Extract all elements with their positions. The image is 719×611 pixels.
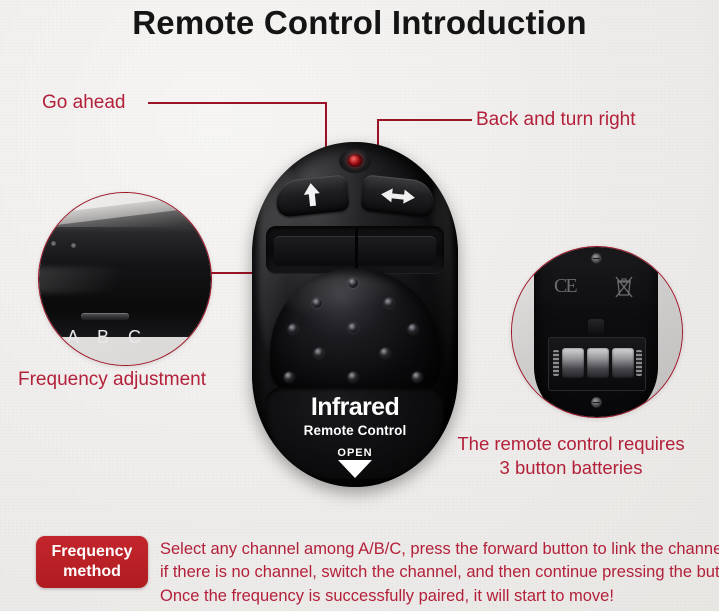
screw-icon xyxy=(591,253,602,264)
inset-left-highlight xyxy=(38,267,141,293)
cover-latch[interactable] xyxy=(588,319,604,335)
inset-frequency-switch: A B C xyxy=(38,192,212,366)
inset-left-device-body: A B C xyxy=(38,227,212,337)
remote-shell: Infrared Remote Control OPEN xyxy=(252,142,458,487)
brand-subtitle: Remote Control xyxy=(266,423,444,438)
inset-left-screws xyxy=(38,241,91,249)
instructions-line-1: Select any channel among A/B/C, press th… xyxy=(160,538,712,561)
compliance-marks: CE MADE IN CHINA xyxy=(548,275,644,303)
indicator-led xyxy=(348,154,363,167)
ir-led xyxy=(314,348,324,358)
brand-name: Infrared xyxy=(266,395,444,420)
battery-spring xyxy=(553,350,559,376)
inset-battery-compartment: CE MADE IN CHINA xyxy=(511,246,683,418)
channel-slider-switch[interactable] xyxy=(81,313,129,320)
badge-line-2: method xyxy=(63,562,121,582)
ir-emitter-dome xyxy=(270,268,440,393)
ir-led xyxy=(348,323,358,333)
screw-icon xyxy=(51,241,56,246)
leader-line-back-right-horizontal xyxy=(377,119,472,121)
callout-go-ahead: Go ahead xyxy=(42,92,125,114)
battery-note: The remote control requires 3 button bat… xyxy=(440,432,702,481)
back-turn-right-button[interactable] xyxy=(360,174,435,217)
ir-led xyxy=(284,372,294,382)
button-battery xyxy=(587,348,609,378)
crossed-out-wheelie-bin-icon xyxy=(614,275,634,299)
remote-control-device: Infrared Remote Control OPEN xyxy=(252,142,458,487)
callout-frequency-adjustment: Frequency adjustment xyxy=(18,369,206,391)
button-battery xyxy=(612,348,634,378)
battery-spring xyxy=(636,350,642,376)
ir-led xyxy=(412,372,422,382)
open-label: OPEN xyxy=(266,447,444,459)
open-triangle-icon xyxy=(338,460,372,478)
screw-icon xyxy=(591,397,602,408)
ir-led xyxy=(408,324,418,334)
instructions-line-3: Once the frequency is successfully paire… xyxy=(160,585,712,608)
dome-highlight xyxy=(282,274,402,318)
ir-led xyxy=(348,372,358,382)
ir-led xyxy=(348,278,358,288)
frequency-method-badge: Frequency method xyxy=(36,536,148,588)
button-battery xyxy=(562,348,584,378)
battery-bay xyxy=(548,337,646,391)
channel-labels: A B C xyxy=(67,327,177,348)
poster-canvas: Remote Control Introduction Go ahead Bac… xyxy=(0,0,719,611)
badge-line-1: Frequency xyxy=(52,542,133,562)
ce-mark-icon: CE xyxy=(554,275,576,298)
arrow-turn-right-icon xyxy=(380,186,415,205)
instructions-line-2: if there is no channel, switch the chann… xyxy=(160,561,712,584)
battery-note-line-1: The remote control requires xyxy=(440,432,702,456)
screw-icon xyxy=(71,243,76,248)
battery-cover: CE MADE IN CHINA xyxy=(534,246,658,418)
page-title: Remote Control Introduction xyxy=(0,4,719,42)
screw-icon xyxy=(38,241,40,246)
arrow-turn-bar xyxy=(390,193,408,199)
callout-back-and-turn-right: Back and turn right xyxy=(476,109,635,131)
battery-note-line-2: 3 button batteries xyxy=(440,456,702,480)
instructions-paragraph: Select any channel among A/B/C, press th… xyxy=(160,538,712,608)
ir-led xyxy=(380,348,390,358)
ir-led xyxy=(312,298,322,308)
leader-line-go-ahead-horizontal xyxy=(148,102,326,104)
ir-led xyxy=(288,324,298,334)
device-label-panel: Infrared Remote Control OPEN xyxy=(266,387,444,479)
ir-led xyxy=(384,298,394,308)
